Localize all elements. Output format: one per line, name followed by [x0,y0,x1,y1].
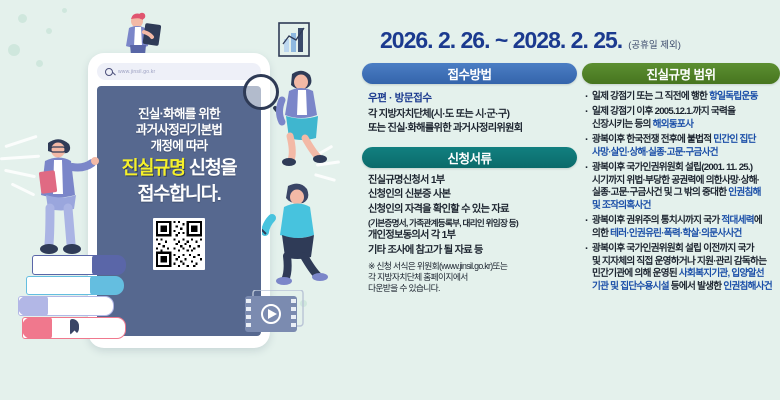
scope-emphasis-text: 인권침해사건 [723,281,772,292]
url-bar[interactable]: www.jinsil.go.kr [97,63,261,80]
column-left: 접수방법 우편 · 방문접수 각 지방자치단체(시·도 또는 시·군·구) 또는… [362,63,577,295]
scope-bullet-6-line-2: 및 지자체의 직접 운영하거나 지원·관리 감독하는 [592,256,780,268]
scope-plain-text: 광복이후 국가인권위원회 설립(2001. 11. 25.) [592,162,752,173]
scope-bullet-4-line-2: 시기까지 위법·부당한 공권력에 의한사망·상해· [592,175,780,187]
book-purple-spine [92,255,126,275]
scope-plain-text: 민간기관에 의해 운영된 [592,268,679,279]
scope-plain-text: 시기까지 위법·부당한 공권력에 의한사망·상해· [592,175,759,186]
method-line-2: 또는 진실·화해를위한 과거사정리위원회 [368,122,573,136]
book-pink-spine [22,317,52,339]
section-method-body: 우편 · 방문접수 각 지방자치단체(시·도 또는 시·군·구) 또는 진실·화… [362,84,577,136]
scope-emphasis-text: 사회복지기관, 입양알선 [679,268,764,279]
scope-emphasis-text: 인권침해 [728,187,760,198]
scope-plain-text: 신장시키는 등의 [592,119,653,130]
document-item-1: 진실규명신청서 1부 [368,174,573,189]
screen-line-3: 개정에 따라 [122,138,237,154]
method-subhead: 우편 · 방문접수 [368,90,573,105]
date-range-header: 2026. 2. 26. ~ 2028. 2. 25. (공휴일 제외) [380,27,780,54]
date-range-text: 2026. 2. 26. ~ 2028. 2. 25. [380,27,622,54]
scope-emphasis-text: 민간인 집단 [713,134,755,145]
date-range-note: (공휴일 제외) [628,37,681,54]
scope-bullet-6: 광복이후 국가인권위원회 설립 이전까지 국가및 지자체의 직접 운영하거나 지… [584,243,780,293]
content-panel: 2026. 2. 26. ~ 2028. 2. 25. (공휴일 제외) 접수방… [360,0,780,400]
screen-line-4-rest: 신청을 [185,157,236,178]
section-documents-body: 진실규명신청서 1부 신청인의 신분증 사본 신청인의 자격을 확인할 수 있는… [362,168,577,295]
scope-bullet-6-line-4: 기관 및 집단수용시설 등에서 발생한 인권침해사건 [592,281,780,293]
scope-emphasis-text: 항일독립운동 [709,91,758,102]
section-scope-title: 진실규명 범위 [647,64,716,83]
document-footnote-1: ※ 신청 서식은 위원회(www.jinsil.go.kr)또는 [368,261,573,272]
scope-bullet-1-line-1: 일제 강점기 또는 그 직전에 행한 항일독립운동 [592,91,780,103]
scope-emphasis-text: 적대세력 [721,215,753,226]
section-documents-title: 신청서류 [447,148,491,167]
screen-highlight-text: 진실규명 [122,157,185,178]
scope-bullet-4-line-1: 광복이후 국가인권위원회 설립(2001. 11. 25.) [592,162,780,174]
section-method-banner: 접수방법 [362,63,577,84]
scope-plain-text: 광복이후 국가인권위원회 설립 이전까지 국가 [592,243,754,254]
scope-bullet-5: 광복이후 권위주의 통치시까지 국가 적대세력에의한 테러·인권유린·폭력·학살… [584,215,780,240]
book-stack [18,255,130,347]
section-documents-banner: 신청서류 [362,147,577,168]
scope-bullet-3-line-2: 사망·살인·상해·실종·고문·구금사건 [592,147,780,159]
scope-bullet-5-line-1: 광복이후 권위주의 통치시까지 국가 적대세력에 [592,215,780,227]
document-footnote-3: 다운받을 수 있습니다. [368,283,573,294]
scope-plain-text: 일제 강점기 이후 2005.12.1.까지 국력을 [592,106,735,117]
document-item-3-sub: (기본증명서, 가족관계등록부, 대리인 위임장 등) [368,218,573,229]
scope-bullet-4-line-4: 및 조작의혹사건 [592,200,780,212]
scope-bullet-1: 일제 강점기 또는 그 직전에 행한 항일독립운동 [584,91,780,103]
scope-plain-text: 의한 [592,228,610,239]
section-scope-banner: 진실규명 범위 [582,63,780,84]
illustration-panel: www.jinsil.go.kr 진실·화해를 위한 과거사정리기본법 개정에 … [0,0,360,400]
scope-bullet-2: 일제 강점기 이후 2005.12.1.까지 국력을신장시키는 등의 해외동포사 [584,106,780,131]
scope-bullet-3: 광복이후 한국전쟁 전후에 불법적 민간인 집단사망·살인·상해·실종·고문·구… [584,134,780,159]
document-item-3: 신청인의 자격을 확인할 수 있는 자료 [368,203,573,218]
scope-bullet-3-line-1: 광복이후 한국전쟁 전후에 불법적 민간인 집단 [592,134,780,146]
bar-chart-icon [278,22,310,57]
scope-bullet-6-line-1: 광복이후 국가인권위원회 설립 이전까지 국가 [592,243,780,255]
scope-bullet-2-line-1: 일제 강점기 이후 2005.12.1.까지 국력을 [592,106,780,118]
scope-emphasis-text: 해외동포사 [653,119,694,130]
method-line-1: 각 지방자치단체(시·도 또는 시·군·구) [368,108,573,122]
scope-bullet-5-line-2: 의한 테러·인권유린·폭력·학살·의문사사건 [592,228,780,240]
document-item-4: 개인정보동의서 각 1부 [368,229,573,244]
scope-plain-text: 일제 강점기 또는 그 직전에 행한 [592,91,709,102]
person-magnifier [272,68,338,168]
book-blue-spine [90,276,124,295]
screen-line-5: 접수합니다. [122,182,237,206]
person-tablet-top [117,12,165,57]
url-text: www.jinsil.go.kr [118,69,155,75]
scope-plain-text: 광복이후 한국전쟁 전후에 불법적 [592,134,713,145]
scope-plain-text: 실종·고문·구금사건 및 그 밖의 중대한 [592,187,728,198]
screen-message: 진실·화해를 위한 과거사정리기본법 개정에 따라 진실규명 신청을 접수합니다… [122,106,237,205]
video-play-icon[interactable] [245,290,305,334]
book-lavender-spine [18,296,48,316]
scope-emphasis-text: 및 조작의혹사건 [592,200,651,211]
scope-bullet-4: 광복이후 국가인권위원회 설립(2001. 11. 25.)시기까지 위법·부당… [584,162,780,212]
section-method-title: 접수방법 [447,64,491,83]
document-footnote-2: 각 지방자치단체 홈페이지에서 [368,272,573,283]
qr-code[interactable] [153,218,205,270]
scope-bullet-list: 일제 강점기 또는 그 직전에 행한 항일독립운동일제 강점기 이후 2005.… [582,84,780,293]
scope-plain-text: 등에서 발생한 [669,281,723,292]
column-right: 진실규명 범위 일제 강점기 또는 그 직전에 행한 항일독립운동일제 강점기 … [582,63,780,296]
screen-line-1: 진실·화해를 위한 [122,106,237,122]
person-standing-books [32,135,104,257]
scope-bullet-4-line-3: 실종·고문·구금사건 및 그 밖의 중대한 인권침해 [592,187,780,199]
document-item-2: 신청인의 신분증 사본 [368,188,573,203]
scope-plain-text: 광복이후 권위주의 통치시까지 국가 [592,215,721,226]
screen-line-2: 과거사정리기본법 [122,122,237,138]
scope-emphasis-text: 기관 및 집단수용시설 [592,281,669,292]
document-item-5: 기타 조사에 참고가 될 자료 등 [368,244,573,259]
search-icon [105,68,113,76]
screen-line-4: 진실규명 신청을 [122,156,237,180]
scope-plain-text: 및 지자체의 직접 운영하거나 지원·관리 감독하는 [592,256,766,267]
scope-bullet-2-line-2: 신장시키는 등의 해외동포사 [592,119,780,131]
scope-plain-text: 에 [754,215,762,226]
person-pointer [262,182,338,287]
scope-emphasis-text: 테러·인권유린·폭력·학살·의문사사건 [610,228,742,239]
scope-bullet-6-line-3: 민간기관에 의해 운영된 사회복지기관, 입양알선 [592,268,780,280]
poster-root: www.jinsil.go.kr 진실·화해를 위한 과거사정리기본법 개정에 … [0,0,780,400]
scope-emphasis-text: 사망·살인·상해·실종·고문·구금사건 [592,147,718,158]
